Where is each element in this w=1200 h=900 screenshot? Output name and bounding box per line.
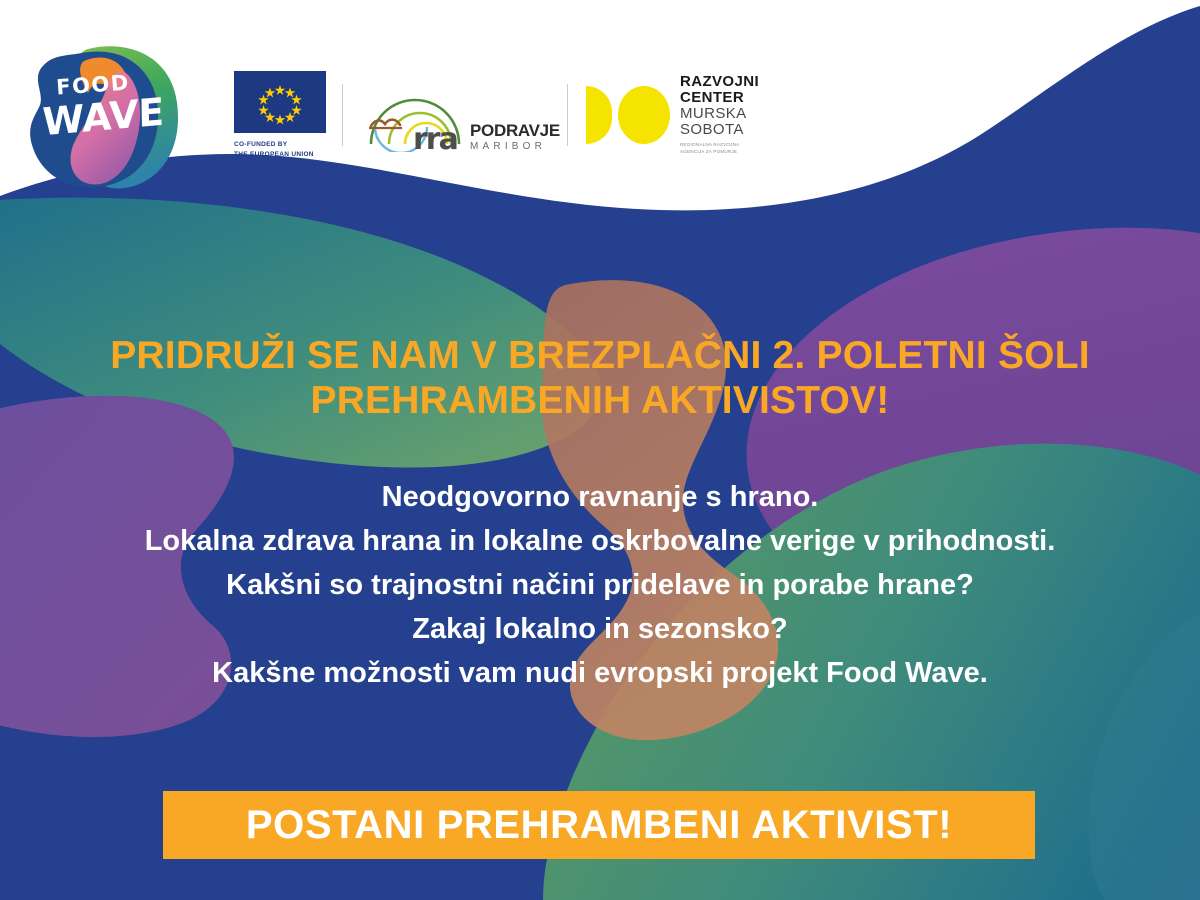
headline-line-1: PRIDRUŽI SE NAM V BREZPLAČNI 2. POLETNI … <box>0 333 1200 378</box>
body-copy: Neodgovorno ravnanje s hrano. Lokalna zd… <box>0 475 1200 695</box>
body-line-3: Kakšni so trajnostni načini pridelave in… <box>0 563 1200 607</box>
poster-canvas: FOOD WAVE <box>0 0 1200 900</box>
body-line-1: Neodgovorno ravnanje s hrano. <box>0 475 1200 519</box>
body-line-5: Kakšne možnosti vam nudi evropski projek… <box>0 651 1200 695</box>
cta-banner[interactable]: POSTANI PREHRAMBENI AKTIVIST! <box>163 791 1035 859</box>
body-line-2: Lokalna zdrava hrana in lokalne oskrbova… <box>0 519 1200 563</box>
poster-content: PRIDRUŽI SE NAM V BREZPLAČNI 2. POLETNI … <box>0 0 1200 900</box>
body-line-4: Zakaj lokalno in sezonsko? <box>0 607 1200 651</box>
cta-label: POSTANI PREHRAMBENI AKTIVIST! <box>246 803 952 848</box>
headline: PRIDRUŽI SE NAM V BREZPLAČNI 2. POLETNI … <box>0 333 1200 423</box>
headline-line-2: PREHRAMBENIH AKTIVISTOV! <box>0 378 1200 423</box>
